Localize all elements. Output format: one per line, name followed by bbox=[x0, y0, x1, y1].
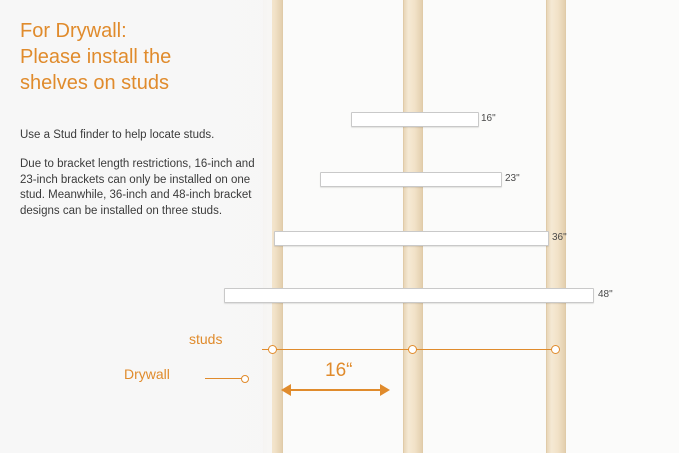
studs-marker-right bbox=[551, 345, 560, 354]
spacing-arrow-left-head bbox=[281, 384, 291, 396]
spacing-arrow-line bbox=[290, 389, 381, 391]
shelf-48 bbox=[224, 288, 594, 303]
shelf-23 bbox=[320, 172, 502, 187]
shelf-label-16: 16" bbox=[481, 113, 496, 125]
shelf-label-23: 23" bbox=[505, 173, 520, 185]
page-title: For Drywall: Please install the shelves … bbox=[20, 18, 270, 96]
drywall-callout-label: Drywall bbox=[124, 366, 170, 382]
stud-center bbox=[403, 0, 423, 453]
shelf-label-36: 36" bbox=[552, 232, 567, 244]
diagram-root: For Drywall: Please install the shelves … bbox=[0, 0, 679, 453]
instruction-paragraph-2: Due to bracket length restrictions, 16-i… bbox=[20, 157, 265, 219]
drywall-marker bbox=[241, 375, 249, 383]
shelf-label-48: 48" bbox=[598, 289, 613, 301]
shelf-16 bbox=[351, 112, 479, 127]
stud-right bbox=[546, 0, 566, 453]
studs-marker-center bbox=[408, 345, 417, 354]
shelf-36 bbox=[274, 231, 549, 246]
wall-panel-mid bbox=[421, 0, 546, 453]
studs-callout-label: studs bbox=[189, 331, 222, 347]
studs-marker-left bbox=[268, 345, 277, 354]
instruction-paragraph-1: Use a Stud finder to help locate studs. bbox=[20, 128, 265, 144]
wall-panel-right bbox=[564, 0, 679, 453]
spacing-measure-label: 16“ bbox=[325, 360, 352, 382]
spacing-arrow-right-head bbox=[380, 384, 390, 396]
